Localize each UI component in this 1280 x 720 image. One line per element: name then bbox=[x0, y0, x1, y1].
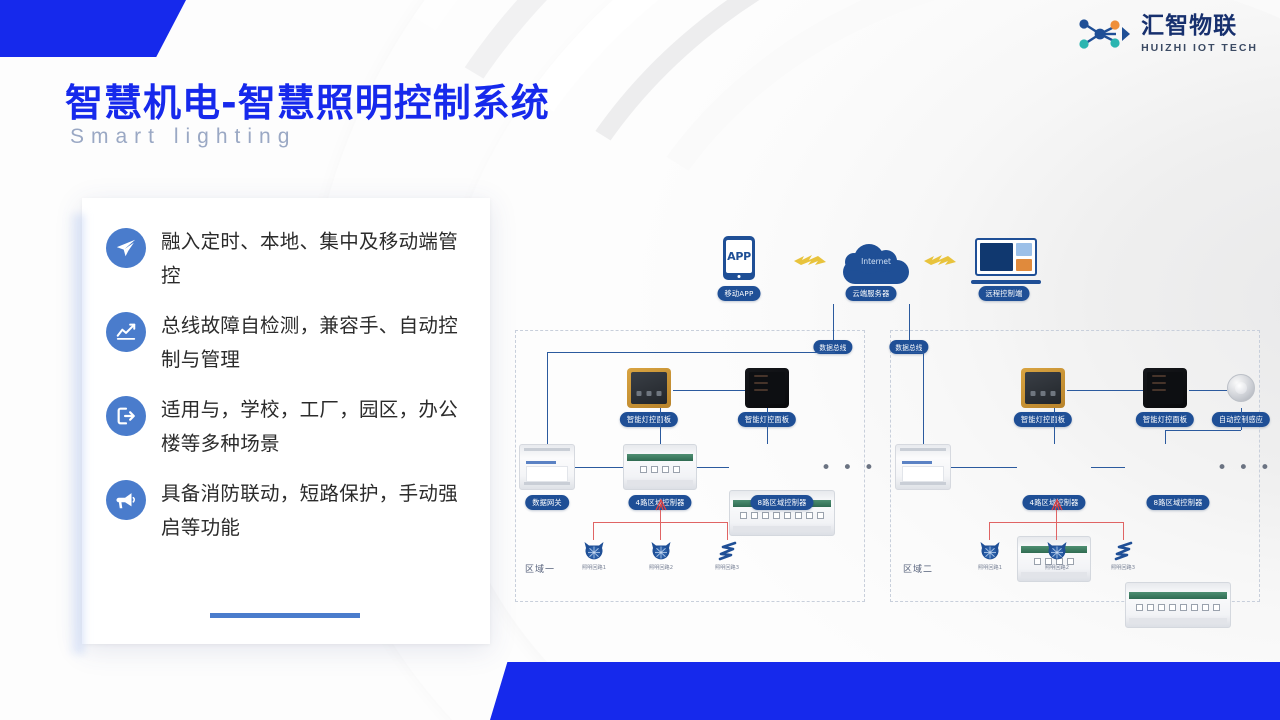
feature-text: 具备消防联动，短路保护，手动强启等功能 bbox=[161, 477, 472, 544]
circuit-label-1a: 照明回路1 bbox=[582, 564, 606, 571]
circuit-label-2c: 照明回路3 bbox=[1111, 564, 1135, 571]
cloud-icon: Internet bbox=[843, 240, 909, 284]
light-panel-icon bbox=[1021, 368, 1065, 408]
circuit-label-1c: 照明回路3 bbox=[715, 564, 739, 571]
smart-panel-gold-2 bbox=[1021, 368, 1065, 408]
feature-list: 融入定时、本地、集中及移动端管控 总线故障自检测，兼容手、自动控制与管理 bbox=[82, 198, 490, 544]
zone-label-2: 区域二 bbox=[903, 562, 933, 575]
controller-pill-1b: 8路区域控制器 bbox=[750, 495, 813, 510]
data-gateway-pill-1: 数据网关 bbox=[525, 495, 569, 510]
page-title: 智慧机电-智慧照明控制系统 bbox=[65, 72, 550, 127]
lighting-circuit-icon bbox=[650, 540, 672, 562]
auto-sensor-node bbox=[1227, 374, 1255, 402]
molecule-network-icon bbox=[1078, 14, 1132, 54]
light-strip-icon bbox=[1113, 541, 1135, 561]
feature-card: 融入定时、本地、集中及移动端管控 总线故障自检测，兼容手、自动控制与管理 bbox=[82, 198, 490, 644]
link-gateway-to-ctrl-1 bbox=[575, 467, 623, 468]
feature-item: 融入定时、本地、集中及移动端管控 bbox=[106, 225, 472, 292]
remote-terminal-pill: 远程控制端 bbox=[979, 286, 1030, 301]
light-strip-icon bbox=[717, 541, 739, 561]
lighting-circuit-icon bbox=[1046, 540, 1068, 562]
sensor-to-ctrl8-v bbox=[1165, 430, 1166, 444]
link-panel-to-ctrl4-1 bbox=[660, 408, 661, 444]
smart-panel-pill-1a: 智能灯控面板 bbox=[620, 412, 678, 427]
cloud-label: Internet bbox=[843, 257, 909, 266]
link-panel-a-to-b-2 bbox=[1067, 390, 1143, 391]
red-drop-1a bbox=[593, 522, 594, 540]
mobile-app-pill: 移动APP bbox=[718, 286, 761, 301]
wireless-bolt-icon bbox=[793, 252, 827, 268]
feature-item: 总线故障自检测，兼容手、自动控制与管理 bbox=[106, 309, 472, 376]
link-panelb-to-ctrl8-1 bbox=[767, 408, 768, 444]
slide-root: 汇智物联 HUIZHI IOT TECH 智慧机电-智慧照明控制系统 Smart… bbox=[0, 0, 1280, 720]
link-ctrl4-to-ctrl8-2 bbox=[1091, 467, 1125, 468]
remote-terminal-node bbox=[975, 238, 1045, 284]
ellipsis-zone-2: • • • bbox=[1217, 458, 1273, 478]
ellipsis-zone-1: • • • bbox=[821, 458, 877, 478]
zone-controller-8ch-2 bbox=[1125, 582, 1231, 628]
cloud-server-node: Internet bbox=[843, 240, 909, 284]
red-drop-2c bbox=[1123, 522, 1124, 540]
red-arrow-icon bbox=[1049, 498, 1065, 512]
light-panel-icon bbox=[745, 368, 789, 408]
red-drop-2a bbox=[989, 522, 990, 540]
logout-arrow-icon bbox=[106, 396, 146, 436]
phone-icon: APP bbox=[723, 236, 755, 280]
circuit-label-2a: 照明回路1 bbox=[978, 564, 1002, 571]
logo-chinese-text: 汇智物联 bbox=[1141, 15, 1258, 38]
paper-plane-icon bbox=[106, 228, 146, 268]
feature-text: 总线故障自检测，兼容手、自动控制与管理 bbox=[161, 309, 472, 376]
megaphone-icon bbox=[106, 480, 146, 520]
circuit-label-1b: 照明回路2 bbox=[649, 564, 673, 571]
mobile-app-node: APP bbox=[723, 236, 755, 280]
smart-panel-black-2 bbox=[1143, 368, 1187, 408]
link-panel-to-ctrl4-2 bbox=[1054, 408, 1055, 444]
sensor-to-ctrl8-h bbox=[1165, 430, 1241, 431]
app-label: APP bbox=[723, 250, 755, 263]
bus-drop-zone2 bbox=[923, 352, 924, 449]
bus-drop-zone1 bbox=[547, 352, 548, 449]
red-arrow-icon bbox=[653, 498, 669, 512]
bus-horizontal-zone1 bbox=[547, 352, 835, 353]
logo-english-text: HUIZHI IOT TECH bbox=[1141, 43, 1258, 54]
chart-line-icon bbox=[106, 312, 146, 352]
link-panel-a-to-b-1 bbox=[673, 390, 745, 391]
sensor-drop-2 bbox=[1241, 408, 1242, 430]
cloud-server-pill: 云端服务器 bbox=[846, 286, 897, 301]
lighting-circuit-icon bbox=[979, 540, 1001, 562]
red-drop-1b bbox=[660, 522, 661, 540]
card-underline-accent bbox=[210, 613, 360, 618]
link-panelb-to-sensor-2 bbox=[1189, 390, 1227, 391]
feature-text: 融入定时、本地、集中及移动端管控 bbox=[161, 225, 472, 292]
wireless-bolt-icon bbox=[923, 252, 957, 268]
link-ctrl4-to-ctrl8-1 bbox=[697, 467, 729, 468]
circuit-label-2b: 照明回路2 bbox=[1045, 564, 1069, 571]
smart-panel-pill-2b: 智能灯控面板 bbox=[1136, 412, 1194, 427]
bus-horizontal-zone2 bbox=[909, 352, 923, 353]
controller-pill-2b: 8路区域控制器 bbox=[1146, 495, 1209, 510]
bottom-right-accent-bar bbox=[490, 662, 1280, 720]
gateway-device-icon bbox=[895, 444, 951, 490]
page-subtitle: Smart lighting bbox=[70, 125, 296, 149]
company-logo: 汇智物联 HUIZHI IOT TECH bbox=[1078, 14, 1258, 54]
smart-panel-gold-1 bbox=[627, 368, 671, 408]
feature-item: 适用与，学校，工厂，园区，办公楼等多种场景 bbox=[106, 393, 472, 460]
motion-sensor-icon bbox=[1227, 374, 1255, 402]
light-panel-icon bbox=[627, 368, 671, 408]
red-drop-2b bbox=[1056, 522, 1057, 540]
gateway-device-icon bbox=[519, 444, 575, 490]
zone-label-1: 区域一 bbox=[525, 562, 555, 575]
link-gateway-to-ctrl-2 bbox=[951, 467, 1017, 468]
feature-text: 适用与，学校，工厂，园区，办公楼等多种场景 bbox=[161, 393, 472, 460]
data-gateway-2 bbox=[895, 444, 951, 490]
system-architecture-diagram: 区域一 区域二 APP 移动APP Internet 云端服务器 远程控制端 bbox=[505, 222, 1275, 622]
smart-panel-pill-2a: 智能灯控面板 bbox=[1014, 412, 1072, 427]
lighting-circuit-icon bbox=[583, 540, 605, 562]
red-drop-1c bbox=[727, 522, 728, 540]
feature-item: 具备消防联动，短路保护，手动强启等功能 bbox=[106, 477, 472, 544]
zone-controller-4ch-1 bbox=[623, 444, 697, 490]
light-panel-icon bbox=[1143, 368, 1187, 408]
data-gateway-1 bbox=[519, 444, 575, 490]
laptop-icon bbox=[975, 238, 1045, 284]
smart-panel-black-1 bbox=[745, 368, 789, 408]
top-left-accent-shape bbox=[0, 0, 186, 57]
